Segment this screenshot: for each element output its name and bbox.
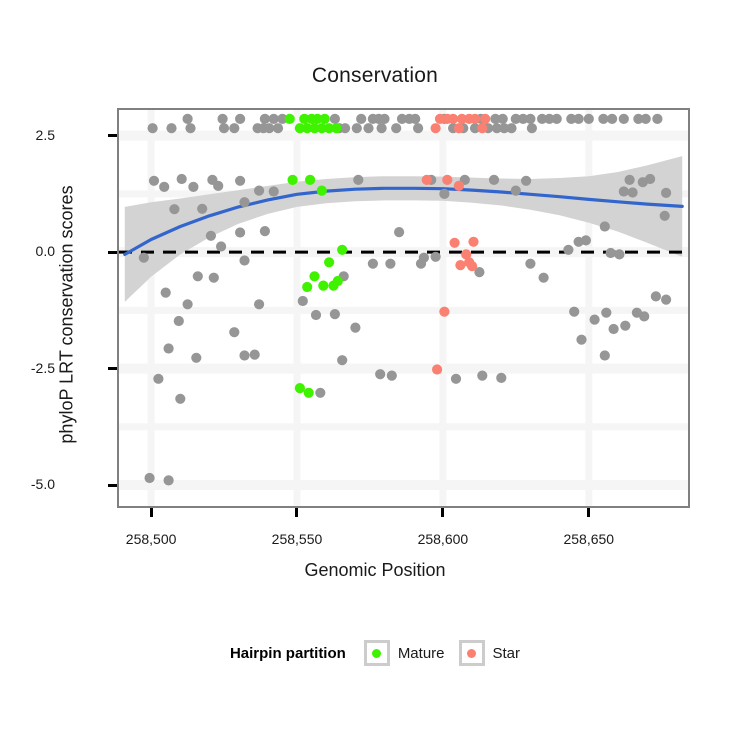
data-point [660,211,670,221]
y-tick-label: 0.0 [0,243,55,259]
plot-panel [117,108,690,508]
data-point [269,186,279,196]
data-point [350,323,360,333]
data-point [431,123,441,133]
data-point [477,371,487,381]
data-point [213,181,223,191]
data-point [368,259,378,269]
data-point [185,123,195,133]
plot-area [119,110,688,506]
data-point [480,114,490,124]
data-point [317,186,327,196]
data-point [188,182,198,192]
data-point [164,343,174,353]
data-point [340,123,350,133]
data-point [330,114,340,124]
data-point [574,114,584,124]
data-point [652,114,662,124]
data-point [352,123,362,133]
data-point [315,388,325,398]
data-point [619,114,629,124]
y-tick [108,251,117,254]
data-point [606,248,616,258]
data-point [413,123,423,133]
legend-dot-mature [372,649,381,658]
data-point [470,114,480,124]
data-point [164,475,174,485]
data-point [288,175,298,185]
data-point [174,316,184,326]
data-point [641,114,651,124]
data-point [600,221,610,231]
data-point [183,114,193,124]
data-point [375,369,385,379]
data-point [206,231,216,241]
data-point [454,123,464,133]
data-point [563,245,573,255]
data-point [609,324,619,334]
y-axis-title: phyloP LRT conservation scores [57,115,78,515]
data-point [175,394,185,404]
data-point [569,307,579,317]
y-tick [108,134,117,137]
data-point [394,227,404,237]
data-point [391,123,401,133]
data-point [197,204,207,214]
data-point [218,114,228,124]
data-point [455,260,465,270]
x-tick [587,508,590,517]
data-point [377,123,387,133]
x-tick-label: 258,650 [529,531,649,547]
data-point [467,261,477,271]
x-axis-title: Genomic Position [0,560,750,581]
data-point [419,253,429,263]
data-point [619,186,629,196]
legend-title: Hairpin partition [230,645,346,662]
data-point [273,123,283,133]
data-point [302,282,312,292]
data-point [145,473,155,483]
legend: Hairpin partition Mature Star [0,640,750,666]
x-tick [150,508,153,517]
chart-root: Conservation 258,500258,550258,600258,65… [0,0,750,750]
data-point [598,114,608,124]
data-point [552,114,562,124]
data-point [576,335,586,345]
legend-key-star [459,640,485,666]
data-point [337,355,347,365]
data-point [439,307,449,317]
data-point [177,174,187,184]
data-point [607,114,617,124]
data-point [448,114,458,124]
legend-item-mature[interactable]: Mature [364,640,445,666]
x-tick [441,508,444,517]
data-point [496,373,506,383]
data-point [645,174,655,184]
data-point [239,255,249,265]
data-point [489,175,499,185]
legend-label-mature: Mature [398,645,445,662]
data-point [337,245,347,255]
data-point [209,273,219,283]
data-point [183,299,193,309]
data-point [318,281,328,291]
data-point [153,374,163,384]
data-point [239,350,249,360]
data-point [661,188,671,198]
data-point [304,388,314,398]
data-point [651,291,661,301]
data-point [525,114,535,124]
y-tick [108,484,117,487]
data-point [166,123,176,133]
data-point [506,123,516,133]
data-point [254,186,264,196]
data-point [468,237,478,247]
scatter-plot-svg [119,110,688,506]
data-point [353,175,363,185]
data-point [305,175,315,185]
data-point [628,187,638,197]
data-point [324,257,334,267]
x-tick-label: 258,600 [383,531,503,547]
data-point [298,296,308,306]
data-point [229,123,239,133]
data-point [454,181,464,191]
y-tick-label: 2.5 [0,127,55,143]
data-point [639,311,649,321]
data-point [422,175,432,185]
x-tick-label: 258,550 [237,531,357,547]
data-point [356,114,366,124]
series-star [422,114,491,375]
data-point [320,114,330,124]
data-point [527,123,537,133]
x-tick [295,508,298,517]
data-point [451,374,461,384]
data-point [600,350,610,360]
data-point [387,371,397,381]
data-point [229,327,239,337]
data-point [219,123,229,133]
data-point [477,123,487,133]
data-point [330,309,340,319]
page-title: Conservation [0,64,750,88]
data-point [431,252,441,262]
data-point [148,123,158,133]
data-point [260,226,270,236]
data-point [311,310,321,320]
data-point [235,227,245,237]
data-point [410,114,420,124]
data-point [254,299,264,309]
data-point [169,204,179,214]
data-point [149,176,159,186]
data-point [601,308,611,318]
data-point [385,259,395,269]
legend-label-star: Star [493,645,521,662]
data-point [331,123,341,133]
y-tick-label: -5.0 [0,476,55,492]
data-point [450,238,460,248]
data-point [216,241,226,251]
data-point [239,197,249,207]
data-point [139,253,149,263]
data-point [525,259,535,269]
data-point [328,281,338,291]
data-point [442,175,452,185]
data-point [235,114,245,124]
data-point [661,295,671,305]
data-point [264,123,274,133]
x-tick-label: 258,500 [91,531,211,547]
y-tick [108,367,117,370]
data-point [193,271,203,281]
data-point [614,249,624,259]
data-point [159,182,169,192]
data-point [191,353,201,363]
legend-item-star[interactable]: Star [459,640,521,666]
data-point [269,114,279,124]
data-point [260,114,270,124]
y-tick-label: -2.5 [0,360,55,376]
data-point [285,114,295,124]
data-point [584,114,594,124]
data-point [625,175,635,185]
data-point [581,235,591,245]
data-point [250,350,260,360]
data-point [309,271,319,281]
data-point [539,273,549,283]
data-point [235,176,245,186]
data-point [511,186,521,196]
data-point [432,364,442,374]
legend-key-mature [364,640,390,666]
data-point [620,321,630,331]
data-point [161,288,171,298]
data-point [363,123,373,133]
data-point [521,176,531,186]
data-point [379,114,389,124]
data-point [295,383,305,393]
data-point [439,189,449,199]
legend-dot-star [467,649,476,658]
data-point [498,114,508,124]
data-point [590,315,600,325]
